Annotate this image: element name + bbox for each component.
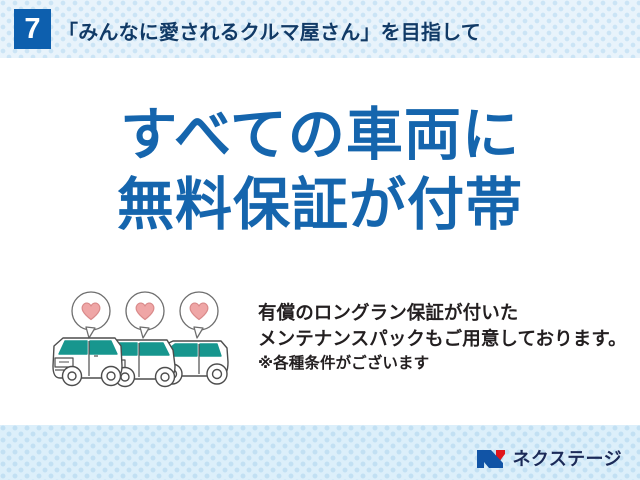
nextage-n-mark-icon xyxy=(476,448,506,469)
body-copy-note: ※各種条件がございます xyxy=(258,351,630,376)
headline: すべての車両に 無料保証が付帯 xyxy=(0,100,640,240)
body-copy-line-2: メンテナンスパックもご用意しております。 xyxy=(258,326,630,352)
body-copy: 有償のロングラン保証が付いた メンテナンスパックもご用意しております。 ※各種条… xyxy=(258,300,630,376)
three-cars-with-heart-bubbles-illustration xyxy=(45,288,245,400)
warranty-promo-banner: 7 「みんなに愛されるクルマ屋さん」を目指して すべての車両に 無料保証が付帯 xyxy=(0,0,640,480)
brand-logo: ネクステージ xyxy=(476,448,623,469)
headline-line-2: 無料保証が付帯 xyxy=(0,170,640,240)
brand-logo-text: ネクステージ xyxy=(513,450,623,468)
car-kei-wagon xyxy=(53,338,122,386)
header-band: 7 「みんなに愛されるクルマ屋さん」を目指して xyxy=(0,0,640,58)
body-copy-line-1: 有償のロングラン保証が付いた xyxy=(258,300,630,326)
header-title: 「みんなに愛されるクルマ屋さん」を目指して xyxy=(58,16,481,45)
header-section-number-badge: 7 xyxy=(14,9,51,49)
headline-line-1: すべての車両に xyxy=(0,100,640,170)
info-row: 有償のロングラン保証が付いた メンテナンスパックもご用意しております。 ※各種条… xyxy=(0,288,640,400)
